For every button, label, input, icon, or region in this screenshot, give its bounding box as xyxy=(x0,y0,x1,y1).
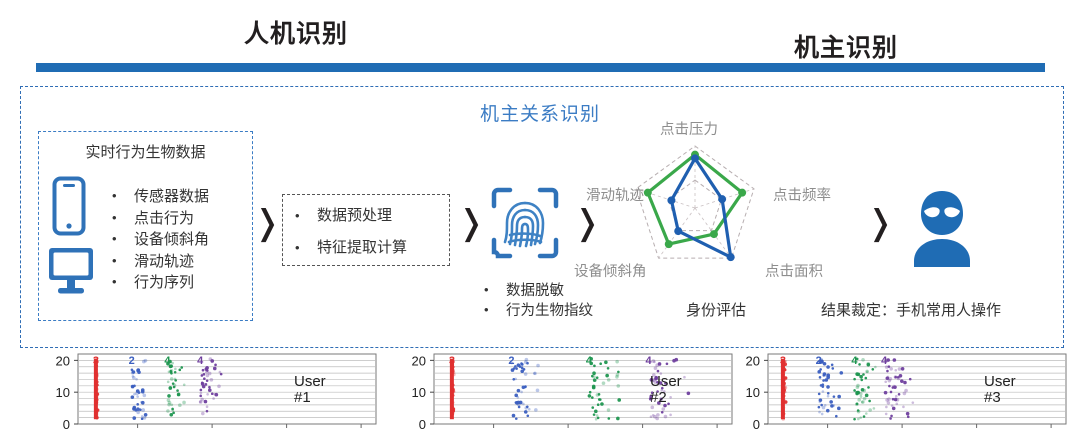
svg-text:4: 4 xyxy=(881,355,888,367)
realtime-data-list: 传感器数据 点击行为 设备倾斜角 滑动轨迹 行为序列 xyxy=(108,186,209,294)
svg-text:0: 0 xyxy=(63,417,70,432)
radar-axis-label-bottom-left: 设备倾斜角 xyxy=(574,260,647,281)
svg-text:4: 4 xyxy=(851,355,858,367)
header-title-owner: 机主识别 xyxy=(794,28,898,64)
svg-text:4: 4 xyxy=(645,355,652,367)
svg-text:#2: #2 xyxy=(650,389,667,406)
svg-text:10: 10 xyxy=(412,385,426,400)
svg-text:#3: #3 xyxy=(984,389,1001,406)
radar-axis-label-top: 点击压力 xyxy=(660,118,718,139)
list-item: 传感器数据 xyxy=(108,186,209,208)
list-item: 数据预处理 xyxy=(290,200,407,232)
svg-text:0: 0 xyxy=(419,417,426,432)
user-scatter-chart-3: 010203244User#3 xyxy=(730,348,1070,441)
radar-caption: 身份评估 xyxy=(686,299,746,320)
list-item: 设备倾斜角 xyxy=(108,229,209,251)
device-icons-group xyxy=(52,176,100,302)
svg-text:3: 3 xyxy=(449,355,455,367)
radar-axis-label-right: 点击频率 xyxy=(773,184,831,205)
phone-icon xyxy=(52,176,86,236)
svg-text:10: 10 xyxy=(56,385,70,400)
svg-text:2: 2 xyxy=(816,355,822,367)
chevron-right-icon: ❭ xyxy=(457,206,486,240)
svg-text:2: 2 xyxy=(129,355,135,367)
svg-text:4: 4 xyxy=(197,355,204,367)
fingerprint-icon xyxy=(490,186,560,265)
masked-person-icon xyxy=(908,189,976,272)
user-scatter-chart-2: 010203244User#2 xyxy=(396,348,736,441)
list-item: 点击行为 xyxy=(108,208,209,230)
preprocessing-list: 数据预处理 特征提取计算 xyxy=(290,200,407,264)
svg-text:#1: #1 xyxy=(294,389,311,406)
svg-text:3: 3 xyxy=(93,355,99,367)
list-item: 滑动轨迹 xyxy=(108,251,209,273)
svg-text:0: 0 xyxy=(753,417,760,432)
radar-axis-label-left: 滑动轨迹 xyxy=(586,184,644,205)
chevron-right-icon: ❭ xyxy=(253,206,282,240)
svg-text:User: User xyxy=(984,373,1016,390)
svg-text:User: User xyxy=(650,373,682,390)
fingerprint-list: 数据脱敏 行为生物指纹 xyxy=(478,281,593,321)
svg-text:20: 20 xyxy=(412,353,426,368)
list-item: 特征提取计算 xyxy=(290,232,407,264)
realtime-data-title: 实时行为生物数据 xyxy=(38,141,253,162)
list-item: 数据脱敏 xyxy=(478,281,593,301)
header-title-human-machine: 人机识别 xyxy=(244,14,348,50)
header-accent-bar xyxy=(36,63,1045,72)
svg-text:20: 20 xyxy=(56,353,70,368)
user-scatter-chart-1: 010203244User#1 xyxy=(40,348,380,441)
list-item: 行为序列 xyxy=(108,272,209,294)
svg-text:4: 4 xyxy=(586,355,593,367)
svg-text:20: 20 xyxy=(746,353,760,368)
svg-text:User: User xyxy=(294,373,326,390)
chevron-right-icon: ❭ xyxy=(866,206,895,240)
list-item: 行为生物指纹 xyxy=(478,301,593,321)
svg-text:10: 10 xyxy=(746,385,760,400)
radar-axis-label-bottom-right: 点击面积 xyxy=(765,260,823,281)
identity-radar-chart: 点击压力 点击频率 点击面积 设备倾斜角 滑动轨迹 xyxy=(588,136,828,286)
svg-text:2: 2 xyxy=(508,355,514,367)
svg-text:4: 4 xyxy=(164,355,171,367)
panel-title: 机主关系识别 xyxy=(0,99,1080,126)
monitor-icon xyxy=(47,246,95,298)
verdict-caption: 结果裁定：手机常用人操作 xyxy=(821,299,1001,320)
svg-text:3: 3 xyxy=(780,355,786,367)
